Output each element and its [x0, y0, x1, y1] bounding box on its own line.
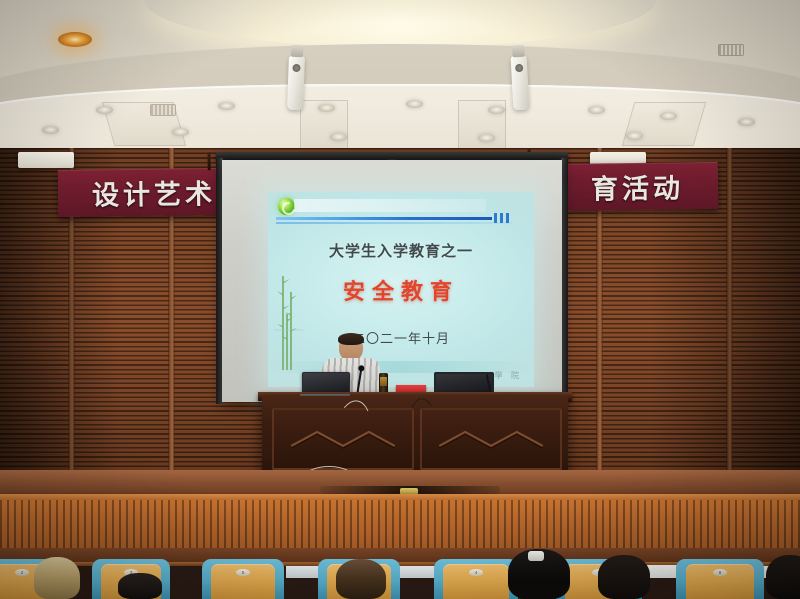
- desk-chevron-molding: [437, 426, 545, 452]
- slide-date: 二〇二一年十月: [268, 328, 534, 347]
- downlight: [42, 126, 59, 134]
- audience-seat[interactable]: 5: [202, 559, 284, 599]
- downlight: [172, 128, 189, 136]
- audience-seat[interactable]: 8: [676, 559, 764, 599]
- audience-seat[interactable]: 4: [434, 559, 518, 599]
- downlight: [478, 134, 495, 142]
- presenter-hair: [338, 333, 364, 345]
- ceiling-speaker-left: [287, 56, 305, 111]
- slide-title: 安全教育: [268, 274, 534, 306]
- air-conditioner-vent-left: [18, 152, 74, 168]
- downlight: [218, 102, 235, 110]
- downlight: [406, 100, 423, 108]
- slide-tick-marks: [494, 213, 509, 223]
- downlight: [488, 106, 505, 114]
- cove-light: [144, 0, 656, 48]
- lecture-hall-photo: 设计艺术 育活动 大学生入学教育之一 安全教育 二〇二一年十月 學: [0, 0, 800, 599]
- slide-organization: 學 院: [494, 370, 522, 381]
- audience-head: [598, 555, 650, 599]
- banner-text-right: 育活动: [591, 166, 684, 206]
- downlight: [588, 106, 605, 114]
- screen-edge-right: [561, 158, 568, 404]
- banner-text-left: 设计艺术: [92, 172, 216, 213]
- downlight: [330, 133, 347, 141]
- warm-spotlight-icon: [58, 32, 92, 47]
- downlight: [318, 104, 335, 112]
- audience-seating-row: 2 3 5 7 4 6 8: [0, 548, 800, 599]
- ceiling-speaker-right: [511, 56, 530, 111]
- ceiling: [0, 0, 800, 152]
- slide-accent-rule: [276, 217, 492, 220]
- stage-front-fascia: [0, 500, 800, 548]
- ceiling-vent-right: [718, 44, 744, 56]
- downlight: [96, 106, 113, 114]
- slide-subtitle: 大学生入学教育之一: [268, 240, 534, 261]
- audience-hair-clip: [528, 551, 544, 561]
- downlight: [738, 118, 755, 126]
- audience-head: [118, 573, 162, 599]
- downlight: [626, 132, 643, 140]
- downlight: [660, 112, 677, 120]
- audience-head: [336, 559, 386, 599]
- presentation-slide: 大学生入学教育之一 安全教育 二〇二一年十月 學 院: [268, 192, 534, 387]
- slide-accent-rule-secondary: [276, 222, 512, 224]
- audience-head: [34, 557, 80, 599]
- slide-header-bar: [294, 199, 486, 212]
- audience-head: [766, 555, 800, 599]
- slide-logo-icon: [278, 198, 295, 215]
- ceiling-vent-left: [150, 104, 176, 116]
